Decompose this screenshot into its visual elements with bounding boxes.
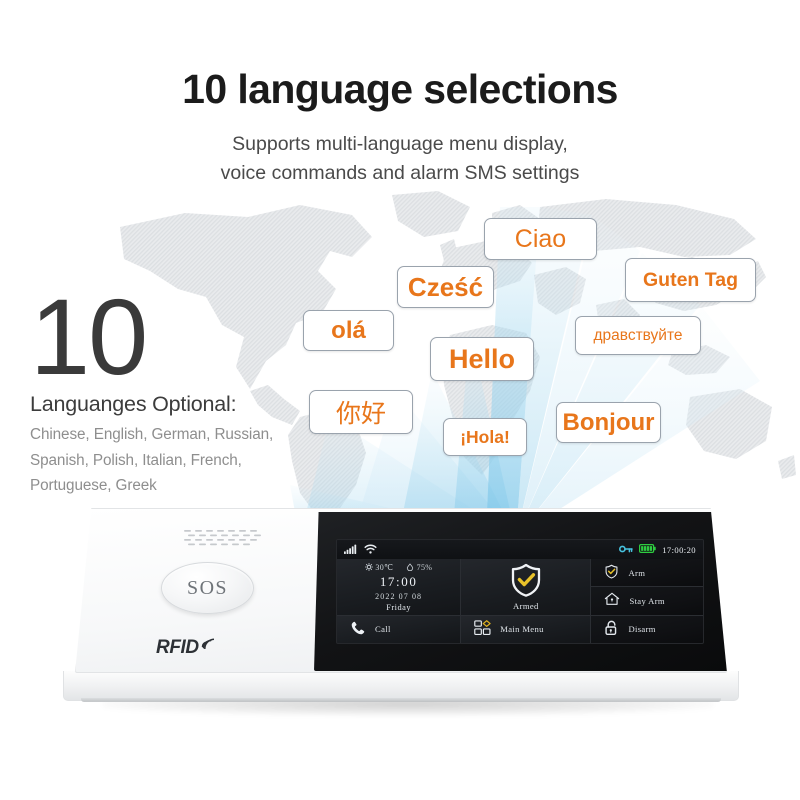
page-subtitle: Supports multi-language menu display, vo…	[0, 130, 800, 188]
page-root: 10 language selections Supports multi-la…	[0, 0, 800, 800]
unlock-icon	[604, 620, 619, 638]
device-base-strip	[81, 698, 721, 702]
language-bubble-chinese: 你好	[309, 390, 413, 434]
languages-optional-label: Languanges Optional:	[30, 392, 330, 417]
lcd-info-tile: 30℃ 75% 17:00 2022 07 08	[337, 559, 460, 615]
cellular-signal-icon	[344, 544, 357, 556]
lcd-status-bar: 17:00:20	[337, 540, 703, 559]
battery-icon	[639, 544, 656, 555]
speaker-grille-icon	[182, 529, 268, 549]
lcd-weekday: Friday	[386, 603, 411, 612]
wifi-icon	[364, 544, 377, 556]
page-subtitle-line-2: voice commands and alarm SMS settings	[0, 159, 800, 188]
rfid-label: RFID	[156, 633, 214, 659]
lcd-button-main-menu[interactable]: Main Menu	[461, 616, 590, 643]
languages-list-line-1: Chinese, English, German, Russian,	[30, 422, 330, 448]
lcd-button-stay-arm-label: Stay Arm	[629, 596, 665, 606]
device-front-bevel	[63, 671, 739, 701]
humidity-value: 75%	[417, 563, 433, 572]
humidity-reading: 75%	[406, 563, 432, 572]
language-bubble-ola: olá	[303, 310, 394, 351]
language-bubble-russian: дравствуйте	[575, 316, 701, 355]
page-title: 10 language selections	[0, 66, 800, 113]
device-glass-panel: 17:00:20	[314, 512, 730, 671]
lcd-clock: 17:00:20	[662, 545, 696, 555]
phone-icon	[350, 620, 366, 638]
lcd-button-main-menu-label: Main Menu	[500, 624, 544, 634]
lcd-button-call[interactable]: Call	[337, 616, 460, 643]
key-icon	[619, 545, 633, 555]
languages-summary: 10 Languanges Optional: Chinese, English…	[30, 288, 330, 499]
lcd-button-call-label: Call	[375, 624, 391, 634]
languages-list-line-3: Portuguese, Greek	[30, 473, 330, 499]
language-bubble-hola: ¡Hola!	[443, 418, 527, 456]
lcd-button-arm-label: Arm	[628, 568, 645, 578]
language-bubble-guten-tag: Guten Tag	[625, 258, 756, 302]
lcd-button-disarm-label: Disarm	[628, 624, 655, 634]
device-lcd-screen: 17:00:20	[336, 539, 704, 644]
lcd-button-arm[interactable]: Arm	[591, 559, 703, 586]
lcd-armed-status-tile: Armed	[461, 559, 590, 615]
lcd-button-stay-arm[interactable]: Stay Arm	[591, 587, 703, 614]
language-bubble-czesc: Cześć	[397, 266, 494, 308]
alarm-panel-device: SOS RFID	[63, 508, 739, 723]
language-bubble-ciao: Ciao	[484, 218, 597, 260]
device-top-face: SOS RFID	[75, 508, 727, 673]
grid-menu-icon	[474, 620, 491, 638]
home-shield-icon	[604, 592, 620, 609]
rfid-text: RFID	[156, 637, 199, 659]
languages-list: Chinese, English, German, Russian, Spani…	[30, 422, 330, 499]
temperature-value: 30℃	[375, 563, 393, 572]
lcd-date: 2022 07 08	[375, 592, 422, 601]
language-bubble-bonjour: Bonjour	[556, 402, 661, 443]
sos-button[interactable]: SOS	[161, 562, 254, 614]
rfid-wave-icon	[200, 633, 214, 655]
temperature-reading: 30℃	[365, 563, 393, 572]
shield-check-icon	[508, 562, 544, 600]
lcd-button-disarm[interactable]: Disarm	[591, 616, 703, 643]
page-subtitle-line-1: Supports multi-language menu display,	[0, 130, 800, 159]
lcd-armed-label: Armed	[513, 601, 539, 611]
lcd-tile-grid: 30℃ 75% 17:00 2022 07 08	[337, 559, 703, 643]
shield-check-icon	[604, 564, 619, 581]
language-count: 10	[30, 288, 330, 386]
weather-row: 30℃ 75%	[365, 563, 432, 572]
lcd-time: 17:00	[380, 574, 418, 590]
languages-list-line-2: Spanish, Polish, Italian, French,	[30, 448, 330, 474]
language-bubble-hello: Hello	[430, 337, 534, 381]
